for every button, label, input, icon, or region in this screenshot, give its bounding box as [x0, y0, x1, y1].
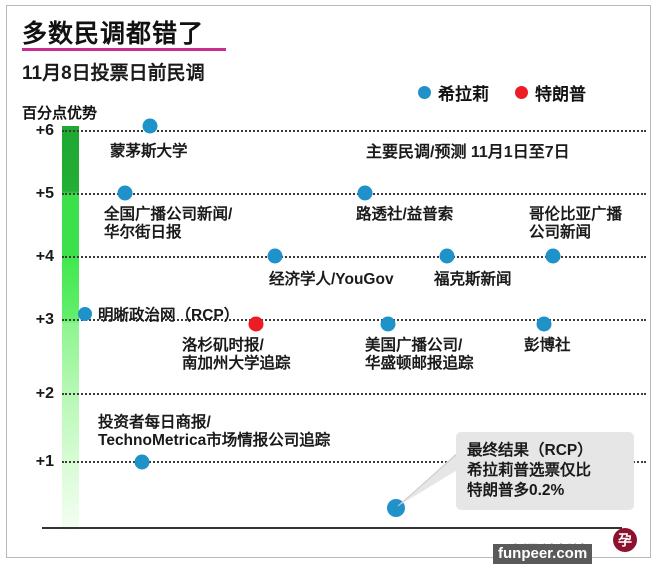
title-underline — [22, 48, 226, 51]
data-point-fox-news[interactable] — [440, 249, 455, 264]
data-point-nbc-wsj[interactable] — [118, 186, 133, 201]
y-tick-plus3: +3 — [18, 311, 54, 329]
legend-label-clinton: 希拉莉 — [438, 80, 489, 105]
watermark: funpeer.com — [493, 544, 592, 564]
y-tick-plus1: +1 — [18, 453, 54, 471]
label-cbs-news: 哥伦比亚广播 公司新闻 — [529, 206, 622, 243]
y-axis-gradient-bar — [62, 126, 79, 530]
label-reuters-ipsos: 路透社/益普索 — [356, 206, 453, 224]
rcp-dot-icon — [78, 307, 92, 321]
label-bloomberg: 彭博社 — [524, 337, 571, 355]
legend-item-clinton: 希拉莉 — [418, 80, 489, 105]
y-tick-plus4: +4 — [18, 248, 54, 266]
watermark-label: funpeer.com — [493, 544, 592, 564]
page-title: 多数民调都错了 — [22, 14, 204, 50]
data-point-bloomberg[interactable] — [537, 317, 552, 332]
label-monmouth: 蒙茅斯大学 — [110, 143, 188, 161]
legend-dot-trump — [515, 86, 528, 99]
data-point-ibd-tipp[interactable] — [135, 455, 150, 470]
data-point-monmouth[interactable] — [143, 119, 158, 134]
label-rcp: 明晰政治网（RCP） — [98, 303, 239, 325]
data-point-lat-usc[interactable] — [249, 317, 264, 332]
label-economist-yougov: 经济学人/YouGov — [269, 271, 394, 289]
data-point-economist-yougov[interactable] — [268, 249, 283, 264]
y-tick-plus2: +2 — [18, 385, 54, 403]
chart-legend: 希拉莉 特朗普 — [418, 80, 586, 105]
label-rcp-row: 明晰政治网（RCP） — [78, 303, 239, 325]
y-tick-plus6: +6 — [18, 122, 54, 140]
label-lat-usc: 洛杉矶时报/ 南加州大学追踪 — [182, 337, 291, 374]
watermark-badge-icon: 孕 — [613, 528, 637, 552]
y-tick-plus5: +5 — [18, 185, 54, 203]
data-point-abc-wapo[interactable] — [381, 317, 396, 332]
label-fox-news: 福克斯新闻 — [434, 271, 512, 289]
label-abc-wapo: 美国广播公司/ 华盛顿邮报追踪 — [365, 337, 474, 374]
label-ibd-tipp: 投资者每日商报/ TechnoMetrica市场情报公司追踪 — [98, 414, 330, 451]
legend-dot-clinton — [418, 86, 431, 99]
data-point-cbs-news[interactable] — [546, 249, 561, 264]
gridline-plus5 — [62, 193, 646, 195]
chart-page: 多数民调都错了 11月8日投票日前民调 希拉莉 特朗普 百分点优势 — [0, 0, 660, 570]
y-axis-caption: 百分点优势 — [22, 102, 97, 123]
range-note: 主要民调/预测 11月1日至7日 — [366, 138, 570, 162]
final-result-callout: 最终结果（RCP） 希拉莉普选票仅比 特朗普多0.2% — [456, 432, 634, 510]
gridline-plus2 — [62, 393, 646, 395]
data-point-reuters-ipsos[interactable] — [358, 186, 373, 201]
legend-item-trump: 特朗普 — [515, 80, 586, 105]
label-nbc-wsj: 全国广播公司新闻/ 华尔街日报 — [104, 206, 232, 243]
chart-baseline — [42, 527, 622, 529]
page-subtitle: 11月8日投票日前民调 — [22, 58, 205, 85]
legend-label-trump: 特朗普 — [535, 80, 586, 105]
